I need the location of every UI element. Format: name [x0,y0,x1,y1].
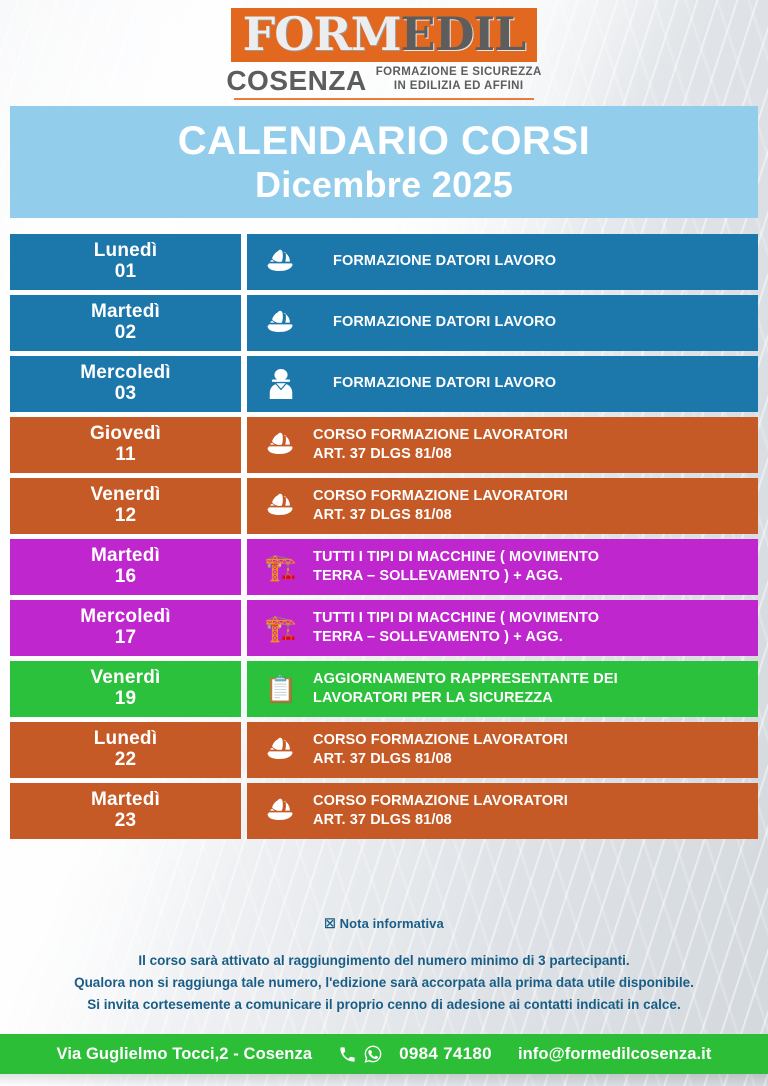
course-cell: FORMAZIONE DATORI LAVORO [247,234,758,290]
logo-tagline-line2: IN EDILIZIA ED AFFINI [376,79,542,93]
day-name: Lunedì [94,241,157,262]
logo-wordmark: FORMEDIL [231,8,538,62]
day-number: 12 [115,506,137,527]
course-cell: 🏗️TUTTI I TIPI DI MACCHINE ( MOVIMENTOTE… [247,539,758,595]
hard-hat-icon [255,431,307,459]
day-cell: Martedì02 [10,295,241,351]
note-line-1: Il corso sarà attivato al raggiungimento… [0,950,768,972]
note-body: Il corso sarà attivato al raggiungimento… [0,950,768,1016]
day-name: Venerdì [90,485,160,506]
logo: FORMEDIL COSENZA FORMAZIONE E SICUREZZA … [0,8,768,100]
course-row: Martedì16🏗️TUTTI I TIPI DI MACCHINE ( MO… [10,539,758,595]
course-line-2: ART. 37 DLGS 81/08 [313,750,568,769]
logo-tagline: FORMAZIONE E SICUREZZA IN EDILIZIA ED AF… [376,65,542,95]
course-cell: FORMAZIONE DATORI LAVORO [247,295,758,351]
course-text: CORSO FORMAZIONE LAVORATORIART. 37 DLGS … [307,731,568,769]
construction-site-icon: 🏗️ [255,615,307,641]
day-number: 17 [115,628,137,649]
day-cell: Giovedì11 [10,417,241,473]
day-number: 01 [115,262,137,283]
course-line-2: TERRA – SOLLEVAMENTO ) + AGG. [313,628,599,647]
contact-footer: Via Guglielmo Tocci,2 - Cosenza 0984 741… [0,1034,768,1074]
course-row: Mercoledì17🏗️TUTTI I TIPI DI MACCHINE ( … [10,600,758,656]
day-cell: Venerdì19 [10,661,241,717]
course-line-1: FORMAZIONE DATORI LAVORO [333,314,556,330]
course-text: AGGIORNAMENTO RAPPRESENTANTE DEILAVORATO… [307,670,618,708]
course-text: CORSO FORMAZIONE LAVORATORIART. 37 DLGS … [307,792,568,830]
logo-divider [234,98,534,100]
page-subtitle: Dicembre 2025 [255,165,513,205]
logo-form-text: FORM [243,11,401,57]
course-row: Giovedì11CORSO FORMAZIONE LAVORATORIART.… [10,417,758,473]
course-line-1: AGGIORNAMENTO RAPPRESENTANTE DEI [313,671,618,687]
course-row: Lunedì01FORMAZIONE DATORI LAVORO [10,234,758,290]
day-name: Martedì [91,546,160,567]
course-line-1: FORMAZIONE DATORI LAVORO [333,253,556,269]
course-row: Martedì02FORMAZIONE DATORI LAVORO [10,295,758,351]
course-text: FORMAZIONE DATORI LAVORO [307,374,556,393]
day-number: 02 [115,323,137,344]
day-cell: Lunedì01 [10,234,241,290]
course-cell: CORSO FORMAZIONE LAVORATORIART. 37 DLGS … [247,722,758,778]
footer-contact-icons [338,1044,383,1064]
hard-hat-icon [255,309,307,337]
course-text: FORMAZIONE DATORI LAVORO [307,313,556,332]
day-name: Martedì [91,790,160,811]
day-cell: Mercoledì17 [10,600,241,656]
day-number: 03 [115,384,137,405]
course-line-2: ART. 37 DLGS 81/08 [313,445,568,464]
course-row: Martedì23CORSO FORMAZIONE LAVORATORIART.… [10,783,758,839]
course-text: CORSO FORMAZIONE LAVORATORIART. 37 DLGS … [307,487,568,525]
worker-icon [255,368,307,400]
course-row: Mercoledì03FORMAZIONE DATORI LAVORO [10,356,758,412]
logo-city: COSENZA [226,67,366,95]
safety-clipboard-icon: 📋 [255,676,307,702]
course-cell: FORMAZIONE DATORI LAVORO [247,356,758,412]
course-line-1: TUTTI I TIPI DI MACCHINE ( MOVIMENTO [313,610,599,626]
phone-icon[interactable] [338,1045,357,1064]
course-text: CORSO FORMAZIONE LAVORATORIART. 37 DLGS … [307,426,568,464]
day-name: Lunedì [94,729,157,750]
course-line-2: TERRA – SOLLEVAMENTO ) + AGG. [313,567,599,586]
day-name: Martedì [91,302,160,323]
course-row: Venerdì19📋AGGIORNAMENTO RAPPRESENTANTE D… [10,661,758,717]
note-title: ☒ Nota informativa [0,916,768,932]
day-name: Mercoledì [80,363,171,384]
course-line-1: CORSO FORMAZIONE LAVORATORI [313,732,568,748]
logo-edil-text: EDIL [401,11,526,57]
course-line-1: CORSO FORMAZIONE LAVORATORI [313,427,568,443]
day-cell: Martedì23 [10,783,241,839]
day-name: Mercoledì [80,607,171,628]
footer-address: Via Guglielmo Tocci,2 - Cosenza [57,1045,313,1064]
day-cell: Lunedì22 [10,722,241,778]
course-line-1: CORSO FORMAZIONE LAVORATORI [313,793,568,809]
day-number: 22 [115,750,137,771]
course-cell: CORSO FORMAZIONE LAVORATORIART. 37 DLGS … [247,417,758,473]
title-band: CALENDARIO CORSI Dicembre 2025 [10,106,758,218]
whatsapp-icon[interactable] [363,1044,383,1064]
course-cell: CORSO FORMAZIONE LAVORATORIART. 37 DLGS … [247,478,758,534]
construction-site-icon: 🏗️ [255,554,307,580]
day-number: 19 [115,689,137,710]
course-line-2: ART. 37 DLGS 81/08 [313,506,568,525]
footer-email[interactable]: info@formedilcosenza.it [518,1045,712,1064]
logo-tagline-line1: FORMAZIONE E SICUREZZA [376,65,542,79]
hard-hat-icon [255,492,307,520]
note-line-3: Si invita cortesemente a comunicare il p… [0,994,768,1016]
day-number: 16 [115,567,137,588]
course-line-2: ART. 37 DLGS 81/08 [313,811,568,830]
day-name: Venerdì [90,668,160,689]
hard-hat-icon [255,797,307,825]
day-number: 23 [115,811,137,832]
course-row: Venerdì12CORSO FORMAZIONE LAVORATORIART.… [10,478,758,534]
course-line-2: LAVORATORI PER LA SICUREZZA [313,689,618,708]
day-cell: Martedì16 [10,539,241,595]
course-list: Lunedì01FORMAZIONE DATORI LAVOROMartedì0… [10,234,758,839]
informative-note: ☒ Nota informativa Il corso sarà attivat… [0,916,768,1016]
course-row: Lunedì22CORSO FORMAZIONE LAVORATORIART. … [10,722,758,778]
day-cell: Mercoledì03 [10,356,241,412]
note-line-2: Qualora non si raggiunga tale numero, l'… [0,972,768,994]
course-line-1: FORMAZIONE DATORI LAVORO [333,375,556,391]
hard-hat-icon [255,736,307,764]
course-cell: 📋AGGIORNAMENTO RAPPRESENTANTE DEILAVORAT… [247,661,758,717]
course-text: FORMAZIONE DATORI LAVORO [307,252,556,271]
course-cell: 🏗️TUTTI I TIPI DI MACCHINE ( MOVIMENTOTE… [247,600,758,656]
course-cell: CORSO FORMAZIONE LAVORATORIART. 37 DLGS … [247,783,758,839]
footer-shadow [0,1074,768,1086]
course-line-1: CORSO FORMAZIONE LAVORATORI [313,488,568,504]
page-title: CALENDARIO CORSI [178,120,590,163]
day-number: 11 [115,445,136,466]
day-name: Giovedì [90,424,161,445]
course-text: TUTTI I TIPI DI MACCHINE ( MOVIMENTOTERR… [307,548,599,586]
course-text: TUTTI I TIPI DI MACCHINE ( MOVIMENTOTERR… [307,609,599,647]
poster: FORMEDIL COSENZA FORMAZIONE E SICUREZZA … [0,0,768,1086]
day-cell: Venerdì12 [10,478,241,534]
hard-hat-icon [255,248,307,276]
course-line-1: TUTTI I TIPI DI MACCHINE ( MOVIMENTO [313,549,599,565]
footer-phone[interactable]: 0984 74180 [399,1044,492,1064]
logo-subline: COSENZA FORMAZIONE E SICUREZZA IN EDILIZ… [226,65,541,95]
